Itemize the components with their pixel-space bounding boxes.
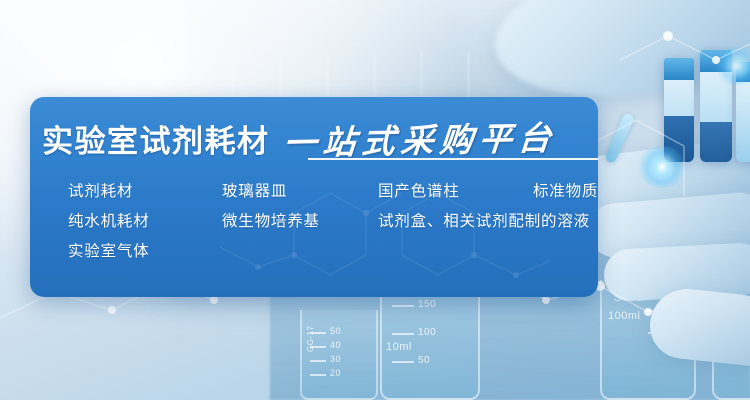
category-item[interactable]: 国产色谱柱 [378,179,460,201]
glassware-volume-100ml: 100ml [608,310,640,322]
category-item[interactable]: 实验室气体 [68,239,150,261]
glassware-mark-50-center: 50 [418,355,430,366]
category-item[interactable]: 玻璃器皿 [222,179,287,201]
tagline-calligraphy: 一站式采购平台 [281,111,559,165]
laboratory-reagent-banner: 50 40 30 20 GG-17 200 150 100 50 GG-17 1… [0,0,750,400]
light-glint [636,146,688,188]
glassware-mark-30: 30 [330,354,341,364]
glassware-mark-150: 150 [418,299,436,310]
glassware-mark-20: 20 [330,368,341,378]
promo-panel: 实验室试剂耗材 一站式采购平台 试剂耗材 玻璃器皿 国产色谱柱 标准物质 纯水机… [30,97,598,297]
category-row: 实验室气体 [38,239,590,269]
glassware-mark-40: 40 [330,340,341,350]
page-title: 实验室试剂耗材 [42,116,270,161]
panel-title-row: 实验室试剂耗材 一站式采购平台 [42,114,598,162]
glassware-mark-100: 100 [418,327,436,338]
category-item[interactable]: 试剂盒、相关试剂配制的溶液 [378,209,590,231]
glassware-mark-50: 50 [330,326,341,336]
glassware-code-a: GG-17 [306,325,315,352]
title-underline-rule [308,158,598,160]
beaker-small-left: 50 40 30 20 GG-17 [300,310,378,400]
category-row: 纯水机耗材 微生物培养基 试剂盒、相关试剂配制的溶液 [38,209,590,239]
glassware-volume-10ml: 10ml [386,341,412,353]
category-item[interactable]: 纯水机耗材 [68,209,150,231]
category-item[interactable]: 标准物质 [533,179,598,201]
category-item[interactable]: 微生物培养基 [222,209,320,231]
category-list: 试剂耗材 玻璃器皿 国产色谱柱 标准物质 纯水机耗材 微生物培养基 试剂盒、相关… [38,179,590,269]
category-row: 试剂耗材 玻璃器皿 国产色谱柱 标准物质 [38,179,590,209]
category-item[interactable]: 试剂耗材 [68,179,133,201]
